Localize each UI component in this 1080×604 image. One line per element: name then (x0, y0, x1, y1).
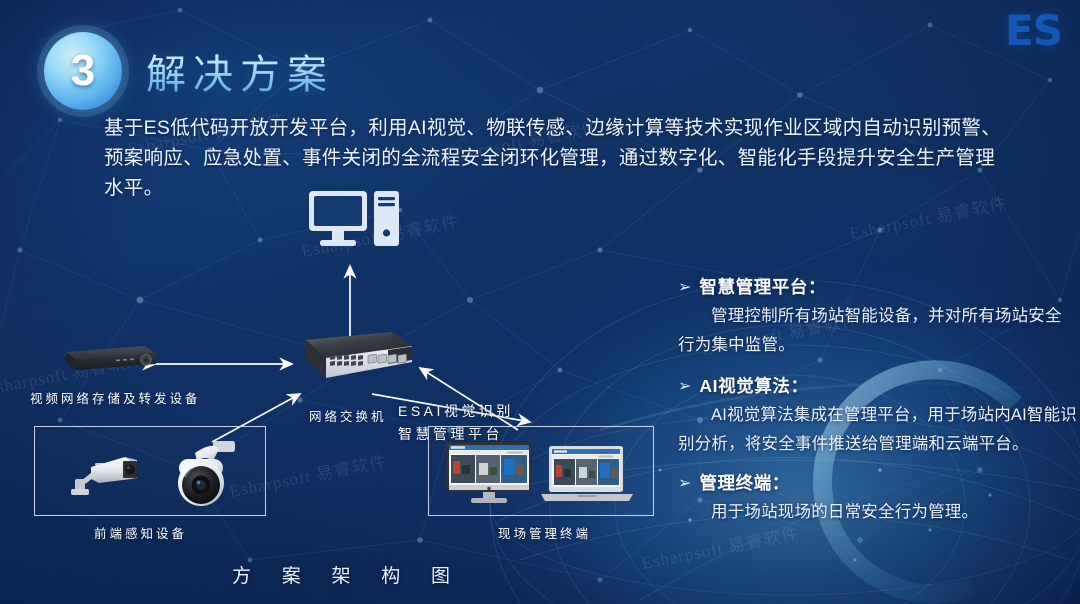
storage-label: 视频网络存储及转发设备 (30, 388, 201, 407)
bullet-arrow-icon: ➢ (678, 280, 691, 296)
sensor-box-label: 前端感知设备 (94, 523, 187, 542)
network-switch-icon: .:|i:. (292, 330, 414, 394)
bullet-body: 管理控制所有场站智能设备，并对所有场站安全行为集中监管。 (678, 302, 1078, 360)
bullet-item-terminal: ➢ 管理终端： 用于场站现场的日常安全行为管理。 (678, 470, 1078, 527)
section-number: 3 (71, 49, 95, 93)
bullet-title: AI视觉算法： (699, 373, 808, 398)
bullet-title: 智慧管理平台： (699, 274, 826, 299)
platform-label-line1: ESAI视觉识别 (398, 400, 514, 423)
bullet-camera-icon (69, 449, 145, 501)
bullet-body: 用于场站现场的日常安全行为管理。 (678, 498, 1078, 527)
sensor-group-box (34, 426, 266, 516)
bullet-camera-device (69, 449, 145, 506)
bullet-body: AI视觉算法集成在管理平台，用于场站内AI智能识别分析，将安全事件推送给管理端和… (678, 401, 1078, 459)
slide-root: Esharpsoft 易睿软件 Esharpsoft 易睿软件 Esharpso… (0, 0, 1080, 604)
storage-device-icon (58, 344, 158, 379)
bullet-arrow-icon: ➢ (678, 476, 691, 492)
svg-text:.:|i:.: .:|i:. (332, 354, 340, 359)
laptop-icon (539, 445, 635, 503)
bullet-item-ai-algorithm: ➢ AI视觉算法： AI视觉算法集成在管理平台，用于场站内AI智能识别分析，将安… (678, 373, 1078, 459)
terminal-box-label: 现场管理终端 (498, 523, 591, 542)
terminal-group-box (428, 426, 654, 516)
desktop-computer-icon (308, 190, 400, 252)
ptz-dome-camera-icon (161, 437, 239, 509)
dome-camera-device (161, 437, 239, 514)
nvr-recorder-icon (58, 344, 158, 374)
architecture-diagram: ESAI视觉识别 智慧管理平台 (0, 182, 672, 604)
feature-bullet-list: ➢ 智慧管理平台： 管理控制所有场站智能设备，并对所有场站安全行为集中监管。 ➢… (678, 272, 1078, 527)
spacer (678, 459, 1078, 468)
bullet-title: 管理终端： (699, 470, 790, 495)
bullet-arrow-icon: ➢ (678, 379, 691, 395)
spacer (678, 360, 1078, 371)
bullet-item-platform: ➢ 智慧管理平台： 管理控制所有场站智能设备，并对所有场站安全行为集中监管。 (678, 274, 1078, 360)
laptop-terminal-device (539, 445, 635, 508)
switch-device-icon: .:|i:. (292, 330, 414, 399)
es-logo: ES (1005, 10, 1062, 52)
platform-device-icon (308, 190, 400, 257)
switch-label: 网络交换机 (309, 406, 387, 425)
section-number-badge: 3 (44, 32, 122, 110)
desktop-terminal-device (445, 441, 533, 510)
imac-monitor-icon (445, 441, 533, 505)
page-title: 解决方案 (146, 42, 334, 100)
diagram-caption: 方 案 架 构 图 (232, 561, 463, 588)
